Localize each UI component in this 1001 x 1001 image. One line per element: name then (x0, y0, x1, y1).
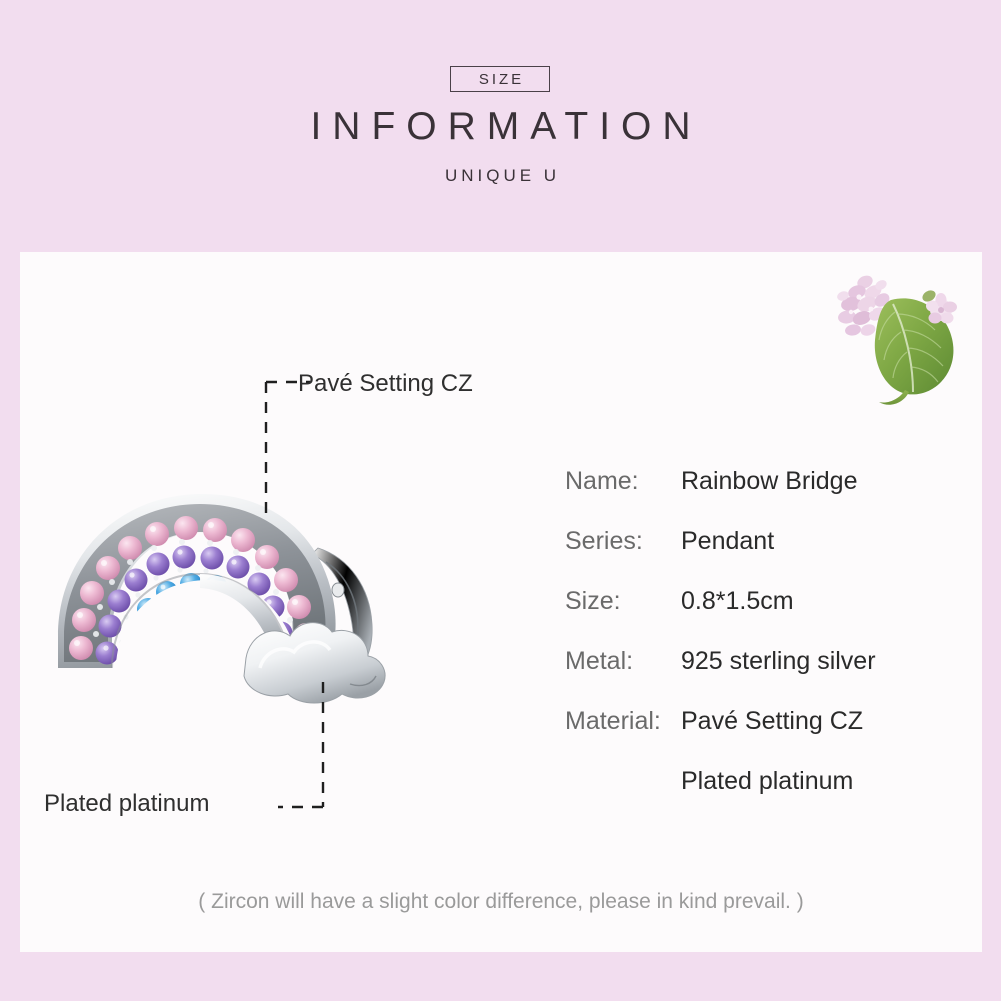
spec-row-material: Material: Pavé Setting CZ (565, 707, 965, 767)
lilac-sprig-icon (829, 252, 974, 412)
page-title: INFORMATION (0, 105, 1001, 149)
spec-value-material: Pavé Setting CZ (681, 707, 863, 736)
spec-row-series: Series: Pendant (565, 527, 965, 587)
spec-row-name: Name: Rainbow Bridge (565, 467, 965, 527)
spec-value-material-continued: Plated platinum (681, 767, 853, 796)
spec-label-material: Material: (565, 707, 661, 736)
disclaimer-note: ( Zircon will have a slight color differ… (20, 890, 982, 914)
spec-label-name: Name: (565, 467, 639, 496)
spec-label-series: Series: (565, 527, 643, 556)
product-image-rainbow-pendant (50, 462, 490, 722)
spec-label-metal: Metal: (565, 647, 633, 676)
spec-row-size: Size: 0.8*1.5cm (565, 587, 965, 647)
header-band: SIZE INFORMATION UNIQUE U (0, 0, 1001, 252)
spec-value-size: 0.8*1.5cm (681, 587, 794, 616)
size-badge: SIZE (450, 66, 550, 92)
callout-label-plated-platinum: Plated platinum (44, 790, 209, 818)
callout-label-pave-setting: Pavé Setting CZ (298, 370, 473, 398)
size-badge-label: SIZE (476, 71, 524, 88)
spec-value-series: Pendant (681, 527, 774, 556)
content-card: Pavé Setting CZ Plated platinum Name: Ra… (20, 252, 982, 952)
spec-row-material-continued: Plated platinum (565, 767, 965, 827)
spec-value-metal: 925 sterling silver (681, 647, 876, 676)
product-spec-list: Name: Rainbow Bridge Series: Pendant Siz… (565, 467, 965, 827)
page-subtitle: UNIQUE U (0, 166, 1001, 186)
spec-row-metal: Metal: 925 sterling silver (565, 647, 965, 707)
spec-value-name: Rainbow Bridge (681, 467, 858, 496)
spec-label-size: Size: (565, 587, 621, 616)
